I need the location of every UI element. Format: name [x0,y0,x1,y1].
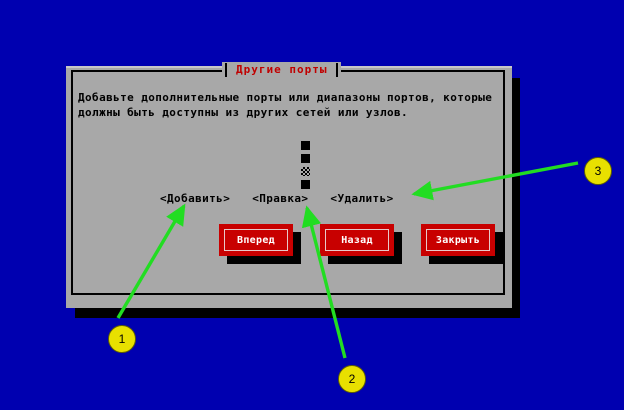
dialog-title-bar: Другие порты [222,62,341,78]
add-button[interactable]: <Добавить> [160,192,230,205]
back-button-label: Назад [325,229,389,251]
back-button[interactable]: Назад [320,224,394,256]
title-tick-right [336,63,338,77]
callout-badge-3: 3 [584,157,612,185]
scrollbar-cell[interactable] [301,180,310,189]
scrollbar-cell[interactable] [301,154,310,163]
close-button[interactable]: Закрыть [421,224,495,256]
forward-button-wrap: Вперед [219,224,293,256]
edit-button[interactable]: <Правка> [252,192,308,205]
callout-badge-1: 1 [108,325,136,353]
text-action-row: <Добавить> <Правка> <Удалить> [160,192,394,205]
back-button-wrap: Назад [320,224,394,256]
navigation-button-row: Вперед Назад Закрыть [219,224,495,256]
callout-badge-2: 2 [338,365,366,393]
close-button-label: Закрыть [426,229,490,251]
port-list-scrollbar[interactable] [301,141,310,193]
dialog-title: Другие порты [227,63,336,77]
forward-button[interactable]: Вперед [219,224,293,256]
scrollbar-thumb[interactable] [301,167,310,176]
delete-button[interactable]: <Удалить> [330,192,393,205]
body-line-2: должны быть доступны из других сетей или… [78,105,498,120]
forward-button-label: Вперед [224,229,288,251]
body-line-1: Добавьте дополнительные порты или диапаз… [78,90,498,105]
dialog-body-text: Добавьте дополнительные порты или диапаз… [78,90,498,120]
screen: Другие порты Добавьте дополнительные пор… [0,0,624,410]
scrollbar-cell[interactable] [301,141,310,150]
close-button-wrap: Закрыть [421,224,495,256]
